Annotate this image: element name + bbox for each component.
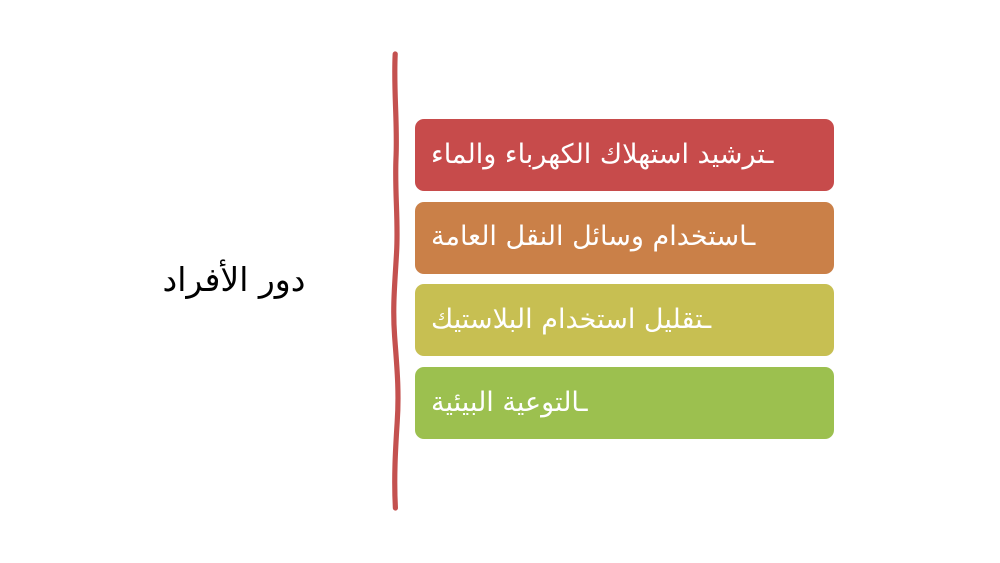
bar-label: ـتقليل استخدام البلاستيك xyxy=(431,304,711,336)
bar-label: ـاستخدام وسائل النقل العامة xyxy=(431,221,755,253)
list-item[interactable]: ـتقليل استخدام البلاستيك xyxy=(415,284,834,356)
list-item[interactable]: ـالتوعية البيئية xyxy=(415,367,834,439)
bar-list: ـترشيد استهلاك الكهرباء والماء ـاستخدام … xyxy=(415,119,834,439)
vertical-divider-line-icon xyxy=(376,50,416,520)
list-item[interactable]: ـاستخدام وسائل النقل العامة xyxy=(415,202,834,274)
bar-label: ـالتوعية البيئية xyxy=(431,387,588,419)
list-item[interactable]: ـترشيد استهلاك الكهرباء والماء xyxy=(415,119,834,191)
slide-canvas: دور الأفراد ـترشيد استهلاك الكهرباء والم… xyxy=(0,0,1000,563)
bar-label: ـترشيد استهلاك الكهرباء والماء xyxy=(431,139,773,171)
page-title: دور الأفراد xyxy=(100,252,368,308)
